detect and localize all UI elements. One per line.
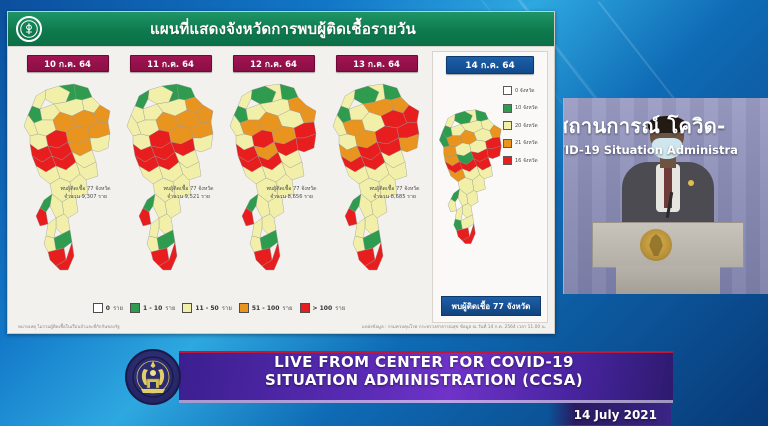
current-day-total-badge: พบผู้ติดเชื้อ 77 จังหวัด (441, 296, 541, 316)
legend-row: 20 จังหวัด (503, 121, 543, 130)
legend-unit: ราย (222, 303, 232, 313)
map-provinces-line: พบผู้ติดเชื้อ 77 จังหวัด (48, 186, 124, 194)
live-video-panel[interactable]: สถานการณ์ โควิด- VID-19 Situation Admini… (563, 98, 768, 294)
video-title-english: VID-19 Situation Administra (563, 143, 768, 157)
banner-date-container: 14 July 2021 (548, 403, 671, 425)
map-provinces-line: พบผู้ติดเชื้อ 77 จังหวัด (151, 186, 227, 194)
legend-swatch-2 (503, 121, 512, 130)
ministry-of-public-health-logo-icon (16, 16, 42, 42)
legend-range: > 100 (313, 305, 333, 312)
legend-swatch-low (130, 303, 140, 313)
video-title-overlay: สถานการณ์ โควิด- VID-19 Situation Admini… (564, 110, 768, 157)
map-statistics: พบผู้ติดเชื้อ 77 จังหวัด จำนวน 9,307 ราย (48, 186, 124, 202)
podium-column (616, 266, 720, 294)
legend-swatch-mid (182, 303, 192, 313)
legend-row: 0 จังหวัด (503, 86, 543, 95)
legend-label: 16 จังหวัด (515, 157, 538, 165)
legend-swatch-high (239, 303, 249, 313)
province-count-legend: 0 จังหวัด 10 จังหวัด 20 จังหวัด 21 จังหว… (503, 86, 543, 165)
legend-unit: ราย (335, 303, 345, 313)
map-provinces-line: พบผู้ติดเชื้อ 77 จังหวัด (254, 186, 330, 194)
legend-swatch-4 (503, 156, 512, 165)
banner-headline: LIVE FROM CENTER FOR COVID-19 SITUATION … (183, 353, 665, 390)
banner-line-2: SITUATION ADMINISTRATION (CCSA) (183, 371, 665, 389)
map-date-chip[interactable]: 10 ก.ค. 64 (27, 55, 109, 72)
legend-range: 1 - 10 (143, 305, 162, 312)
legend-swatch-0 (503, 86, 512, 95)
legend-item: 51 - 100 ราย (239, 303, 293, 313)
map-date-chip[interactable]: 11 ก.ค. 64 (130, 55, 212, 72)
thailand-map-large[interactable] (435, 78, 507, 274)
legend-range: 11 - 50 (195, 305, 218, 312)
map-statistics: พบผู้ติดเชื้อ 77 จังหวัด จำนวน 9,521 ราย (151, 186, 227, 202)
thailand-map[interactable]: พบผู้ติดเชื้อ 77 จังหวัด จำนวน 9,521 ราย (121, 78, 221, 274)
slide-footnote-right: แหล่งข้อมูล : กรมควบคุมโรค กระทรวงสาธารณ… (362, 323, 546, 330)
map-count-line: จำนวน 9,307 ราย (48, 194, 124, 202)
banner-date: 14 July 2021 (574, 408, 657, 422)
thai-government-seal-icon (640, 229, 672, 261)
daily-maps-row: 10 ก.ค. 64 (16, 53, 430, 293)
thailand-map[interactable]: พบผู้ติดเชื้อ 77 จังหวัด จำนวน 9,307 ราย (18, 78, 118, 274)
map-column: 10 ก.ค. 64 (16, 53, 119, 293)
slide-body: 10 ก.ค. 64 (8, 47, 554, 334)
speaker-lapel-pin (688, 180, 694, 186)
legend-item: > 100 ราย (300, 303, 346, 313)
map-count-line: จำนวน 8,685 ราย (357, 194, 433, 202)
legend-range: 0 (106, 305, 110, 312)
slide-title: แผนที่แสดงจังหวัดการพบผู้ติดเชื้อรายวัน (42, 17, 554, 41)
map-date-chip[interactable]: 12 ก.ค. 64 (233, 55, 315, 72)
thailand-map[interactable]: พบผู้ติดเชื้อ 77 จังหวัด จำนวน 8,656 ราย (224, 78, 324, 274)
map-count-line: จำนวน 9,521 ราย (151, 194, 227, 202)
legend-swatch-1 (503, 104, 512, 113)
map-statistics: พบผู้ติดเชื้อ 77 จังหวัด จำนวน 8,656 ราย (254, 186, 330, 202)
map-column: 12 ก.ค. 64 (222, 53, 325, 293)
lower-third-banner: LIVE FROM CENTER FOR COVID-19 SITUATION … (113, 347, 673, 409)
map-count-line: จำนวน 8,656 ราย (254, 194, 330, 202)
legend-row: 21 จังหวัด (503, 139, 543, 148)
legend-row: 16 จังหวัด (503, 156, 543, 165)
legend-swatch-highest (300, 303, 310, 313)
legend-range: 51 - 100 (252, 305, 280, 312)
presentation-slide: แผนที่แสดงจังหวัดการพบผู้ติดเชื้อรายวัน … (7, 11, 555, 334)
legend-label: 21 จังหวัด (515, 139, 538, 147)
current-day-date-chip[interactable]: 14 ก.ค. 64 (446, 56, 534, 74)
legend-swatch-3 (503, 139, 512, 148)
current-day-map-area: 0 จังหวัด 10 จังหวัด 20 จังหวัด 21 จังหว… (433, 78, 547, 274)
legend-unit: ราย (113, 303, 123, 313)
banner-line-1: LIVE FROM CENTER FOR COVID-19 (183, 353, 665, 371)
legend-unit: ราย (282, 303, 292, 313)
legend-label: 10 จังหวัด (515, 104, 538, 112)
map-date-chip[interactable]: 13 ก.ค. 64 (336, 55, 418, 72)
map-statistics: พบผู้ติดเชื้อ 77 จังหวัด จำนวน 8,685 ราย (357, 186, 433, 202)
map-column: 13 ก.ค. 64 (325, 53, 428, 293)
legend-item: 1 - 10 ราย (130, 303, 175, 313)
thailand-map[interactable]: พบผู้ติดเชื้อ 77 จังหวัด จำนวน 8,685 ราย (327, 78, 427, 274)
thai-royal-emblem-icon (125, 349, 181, 405)
video-title-thai: สถานการณ์ โควิด- (563, 110, 768, 142)
current-day-panel: 14 ก.ค. 64 (432, 51, 548, 323)
legend-item: 0 ราย (93, 303, 123, 313)
legend-swatch-zero (93, 303, 103, 313)
map-provinces-line: พบผู้ติดเชื้อ 77 จังหวัด (357, 186, 433, 194)
legend-unit: ราย (165, 303, 175, 313)
map-column: 11 ก.ค. 64 (119, 53, 222, 293)
legend-label: 0 จังหวัด (515, 87, 535, 95)
slide-footnote-left: หมายเหตุ ไม่รวมผู้ติดเชื้อในเรือนจำและที… (18, 323, 120, 330)
legend-item: 11 - 50 ราย (182, 303, 231, 313)
slide-header: แผนที่แสดงจังหวัดการพบผู้ติดเชื้อรายวัน (8, 12, 554, 47)
legend-label: 20 จังหวัด (515, 122, 538, 130)
case-range-legend: 0 ราย 1 - 10 ราย 11 - 50 ราย 51 - 100 รา… (8, 303, 430, 313)
legend-row: 10 จังหวัด (503, 104, 543, 113)
